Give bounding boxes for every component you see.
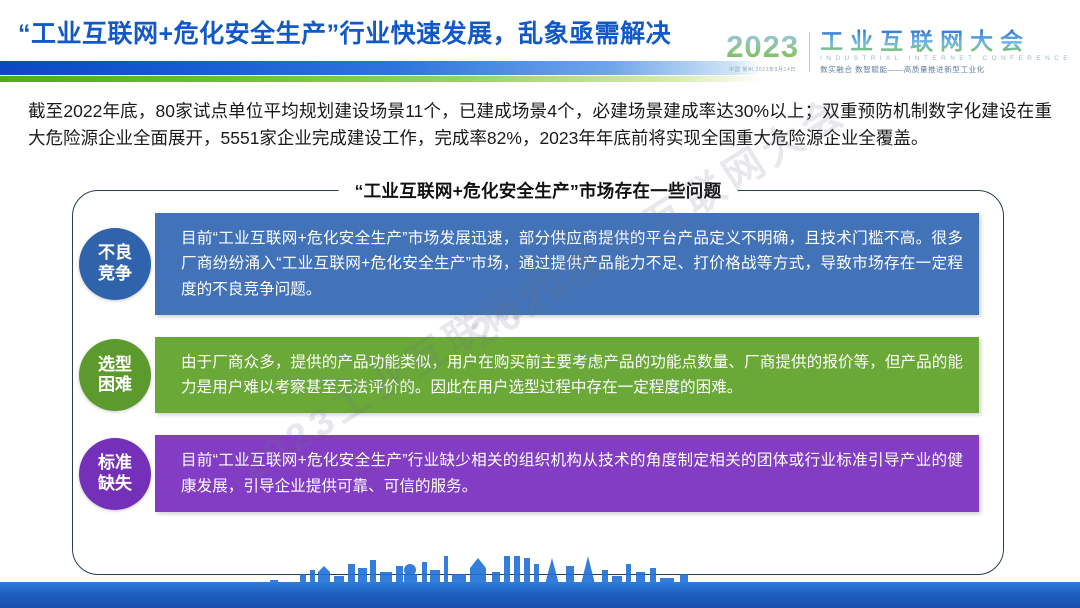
intro-paragraph: 截至2022年底，80家试点单位平均规划建设场景11个，已建成场景4个，必建场景… xyxy=(28,98,1052,151)
logo-year: 2023 xyxy=(726,31,799,62)
problem-item-badge-line1: 标准 xyxy=(98,453,132,473)
problem-item-list: 不良竞争目前“工业互联网+危化安全生产”市场发展迅速，部分供应商提供的平台产品定… xyxy=(73,213,1003,512)
problem-item-badge-line1: 不良 xyxy=(98,243,132,263)
panel-title: “工业互联网+危化安全生产”市场存在一些问题 xyxy=(339,178,738,203)
problems-panel: “工业互联网+危化安全生产”市场存在一些问题 不良竞争目前“工业互联网+危化安全… xyxy=(72,190,1004,575)
logo-text-block: 工业互联网大会 INDUSTRIAL INTERNET CONFERENCE 数… xyxy=(820,29,1072,74)
problem-item-text: 由于厂商众多，提供的产品功能类似，用户在购买前主要考虑产品的功能点数量、厂商提供… xyxy=(155,337,979,414)
problem-item-badge: 标准缺失 xyxy=(79,438,151,510)
conference-logo: 2023 中国 常州 2023年9月14日 工业互联网大会 INDUSTRIAL… xyxy=(726,24,1072,80)
footer-band xyxy=(0,582,1080,608)
header-bar-blue xyxy=(0,61,762,75)
problem-item-text: 目前“工业互联网+危化安全生产”市场发展迅速，部分供应商提供的平台产品定义不明确… xyxy=(155,213,979,315)
logo-slogan: 数实融合 数智赋能——高质量推进新型工业化 xyxy=(820,64,1072,75)
logo-name-cn: 工业互联网大会 xyxy=(820,29,1072,53)
problem-item-badge-line2: 缺失 xyxy=(98,474,132,494)
problem-item-badge-line2: 困难 xyxy=(98,375,132,395)
logo-divider xyxy=(809,32,810,72)
slide-root: “工业互联网+危化安全生产”行业快速发展，乱象亟需解决 2023 中国 常州 2… xyxy=(0,0,1080,608)
problem-item: 不良竞争目前“工业互联网+危化安全生产”市场发展迅速，部分供应商提供的平台产品定… xyxy=(133,213,979,315)
logo-year-subtext: 中国 常州 2023年9月14日 xyxy=(729,66,796,73)
header-accent-bar xyxy=(0,61,762,83)
page-title: “工业互联网+危化安全生产”行业快速发展，乱象亟需解决 xyxy=(18,14,671,50)
footer-skyline xyxy=(0,556,1080,608)
header-bar-green xyxy=(0,76,762,82)
logo-year-block: 2023 中国 常州 2023年9月14日 xyxy=(726,31,799,73)
problem-item-badge-line1: 选型 xyxy=(98,355,132,375)
problem-item: 选型困难由于厂商众多，提供的产品功能类似，用户在购买前主要考虑产品的功能点数量、… xyxy=(133,337,979,414)
logo-name-en: INDUSTRIAL INTERNET CONFERENCE xyxy=(820,55,1072,62)
problem-item-badge-line2: 竞争 xyxy=(98,264,132,284)
problem-item-text: 目前“工业互联网+危化安全生产”行业缺少相关的组织机构从技术的角度制定相关的团体… xyxy=(155,435,979,512)
problem-item-badge: 选型困难 xyxy=(79,339,151,411)
problem-item: 标准缺失目前“工业互联网+危化安全生产”行业缺少相关的组织机构从技术的角度制定相… xyxy=(133,435,979,512)
problem-item-badge: 不良竞争 xyxy=(79,228,151,300)
